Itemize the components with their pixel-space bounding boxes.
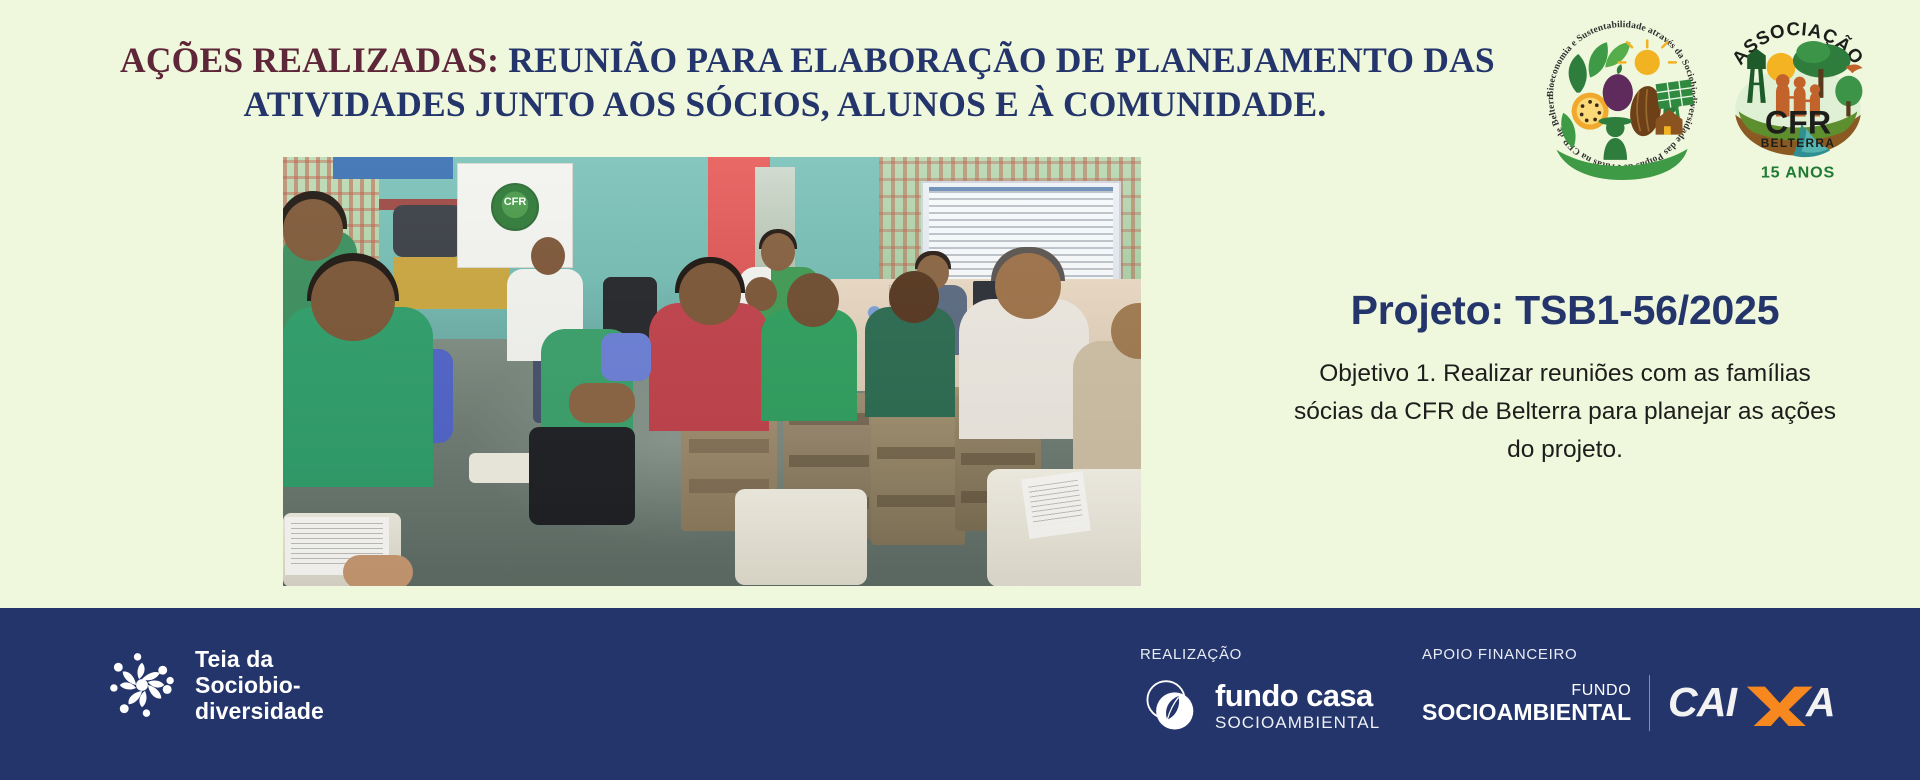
page-title: AÇÕES REALIZADAS: REUNIÃO PARA ELABORAÇÃ… bbox=[120, 38, 1450, 126]
realizacao-label: REALIZAÇÃO bbox=[1140, 646, 1380, 663]
project-info: Projeto: TSB1-56/2025 Objetivo 1. Realiz… bbox=[1285, 285, 1845, 469]
svg-text:A: A bbox=[1805, 680, 1836, 725]
teia-logo: Teia da Sociobio- diversidade bbox=[105, 646, 324, 724]
logo-bioeconomia-icon: Bioeconomia e Sustentabilidade através d… bbox=[1538, 12, 1706, 180]
project-title: Projeto: TSB1-56/2025 bbox=[1285, 285, 1845, 335]
svg-text:15 ANOS: 15 ANOS bbox=[1761, 164, 1835, 182]
fundo-socioambiental-top: FUNDO bbox=[1422, 682, 1631, 700]
teia-web-icon bbox=[105, 648, 179, 722]
title-main-1: REUNIÃO PARA ELABORAÇÃO DE PLANEJAMENTO … bbox=[499, 40, 1495, 80]
meeting-photo bbox=[283, 157, 1141, 586]
title-line-2: ATIVIDADES JUNTO AOS SÓCIOS, ALUNOS E À … bbox=[120, 82, 1450, 126]
fundo-socioambiental-bottom: SOCIOAMBIENTAL bbox=[1422, 700, 1631, 725]
apoio-financeiro-group: APOIO FINANCEIRO FUNDO SOCIOAMBIENTAL CA… bbox=[1422, 646, 1874, 731]
caixa-logo: CAI A bbox=[1668, 680, 1873, 726]
fundo-casa-name: fundo casa bbox=[1215, 680, 1380, 711]
teia-line-1: Teia da bbox=[195, 646, 324, 672]
title-line-1: AÇÕES REALIZADAS: REUNIÃO PARA ELABORAÇÃ… bbox=[120, 38, 1450, 82]
svg-text:CAI: CAI bbox=[1668, 680, 1739, 725]
fundo-socioambiental-logo: FUNDO SOCIOAMBIENTAL bbox=[1422, 682, 1631, 725]
fundo-casa-icon bbox=[1140, 675, 1202, 737]
campaign-banner: AÇÕES REALIZADAS: REUNIÃO PARA ELABORAÇÃ… bbox=[0, 0, 1920, 780]
svg-text:BELTERRA: BELTERRA bbox=[1761, 136, 1836, 150]
banner-footer: Teia da Sociobio- diversidade REALIZAÇÃO… bbox=[0, 608, 1920, 780]
realizacao-group: REALIZAÇÃO fundo casa SOCIOAMBIENTAL bbox=[1140, 646, 1380, 737]
project-objective: Objetivo 1. Realizar reuniões com as fam… bbox=[1285, 355, 1845, 469]
svg-text:CFR: CFR bbox=[1765, 104, 1831, 140]
logo-associacao-cfr-icon: ASSOCIAÇÃO bbox=[1712, 8, 1884, 186]
fundo-casa-sub: SOCIOAMBIENTAL bbox=[1215, 713, 1380, 733]
teia-line-2: Sociobio- bbox=[195, 672, 324, 698]
teia-logo-text: Teia da Sociobio- diversidade bbox=[195, 646, 324, 724]
photo-overlay bbox=[283, 157, 1141, 586]
teia-line-3: diversidade bbox=[195, 698, 324, 724]
logo-divider bbox=[1649, 675, 1650, 731]
apoio-label: APOIO FINANCEIRO bbox=[1422, 646, 1874, 663]
title-accent: AÇÕES REALIZADAS: bbox=[120, 40, 499, 80]
banner-top-section: AÇÕES REALIZADAS: REUNIÃO PARA ELABORAÇÃ… bbox=[0, 0, 1920, 608]
